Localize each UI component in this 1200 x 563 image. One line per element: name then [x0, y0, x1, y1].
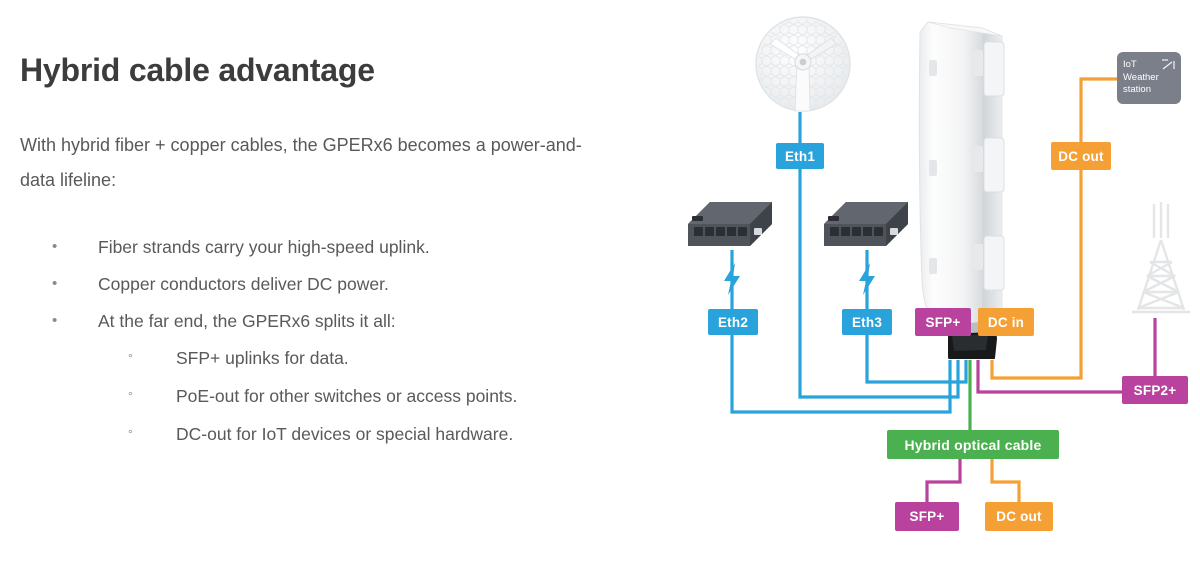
node-dc-out-output[interactable]: DC out [985, 502, 1053, 531]
slide-root: Hybrid cable advantage With hybrid fiber… [0, 0, 1200, 563]
list-item-label: DC-out for IoT devices or special hardwa… [176, 422, 513, 446]
node-dc-out-top[interactable]: DC out [1051, 142, 1111, 170]
dish-antenna-icon [753, 14, 853, 114]
node-eth2[interactable]: Eth2 [708, 309, 758, 335]
list-item: ° DC-out for IoT devices or special hard… [20, 422, 620, 446]
iot-label-line3: station [1123, 84, 1175, 97]
radio-tower-icon [1130, 200, 1192, 318]
list-item: ° SFP+ uplinks for data. [20, 346, 620, 370]
list-item: • Fiber strands carry your high-speed up… [20, 235, 620, 259]
list-item-label: Fiber strands carry your high-speed upli… [98, 235, 430, 259]
text-panel: Hybrid cable advantage With hybrid fiber… [0, 0, 640, 563]
network-diagram: IoT Weather station Eth1 Eth2 Eth3 SFP+ … [640, 0, 1200, 563]
list-item: ° PoE-out for other switches or access p… [20, 384, 620, 408]
list-item: • Copper conductors deliver DC power. [20, 272, 620, 296]
bullet-marker: • [20, 309, 98, 333]
intro-paragraph: With hybrid fiber + copper cables, the G… [20, 128, 600, 198]
node-eth3[interactable]: Eth3 [842, 309, 892, 335]
lightning-bolt-icon [855, 262, 879, 296]
node-dc-in[interactable]: DC in [978, 308, 1034, 336]
sensor-glyph-icon [1161, 57, 1177, 73]
bullet-list: • Fiber strands carry your high-speed up… [20, 235, 620, 460]
node-sfp2-plus[interactable]: SFP2+ [1122, 376, 1188, 404]
node-eth1[interactable]: Eth1 [776, 143, 824, 169]
list-item: • At the far end, the GPERx6 splits it a… [20, 309, 620, 333]
bullet-marker: ° [20, 422, 176, 446]
lightning-bolt-icon [720, 262, 744, 296]
list-item-label: Copper conductors deliver DC power. [98, 272, 389, 296]
node-hybrid-optical-cable[interactable]: Hybrid optical cable [887, 430, 1059, 459]
list-item-label: PoE-out for other switches or access poi… [176, 384, 517, 408]
weather-station-icon: IoT Weather station [1117, 52, 1181, 104]
list-item-label: SFP+ uplinks for data. [176, 346, 349, 370]
iot-label-line2: Weather [1123, 72, 1175, 85]
page-title: Hybrid cable advantage [20, 52, 375, 89]
bullet-marker: • [20, 272, 98, 296]
node-sfp-plus-output[interactable]: SFP+ [895, 502, 959, 531]
network-switch-icon [680, 194, 776, 256]
bullet-marker: • [20, 235, 98, 259]
list-item-label: At the far end, the GPERx6 splits it all… [98, 309, 396, 333]
bullet-marker: ° [20, 384, 176, 408]
node-sfp-plus-device[interactable]: SFP+ [915, 308, 971, 336]
bullet-marker: ° [20, 346, 176, 370]
